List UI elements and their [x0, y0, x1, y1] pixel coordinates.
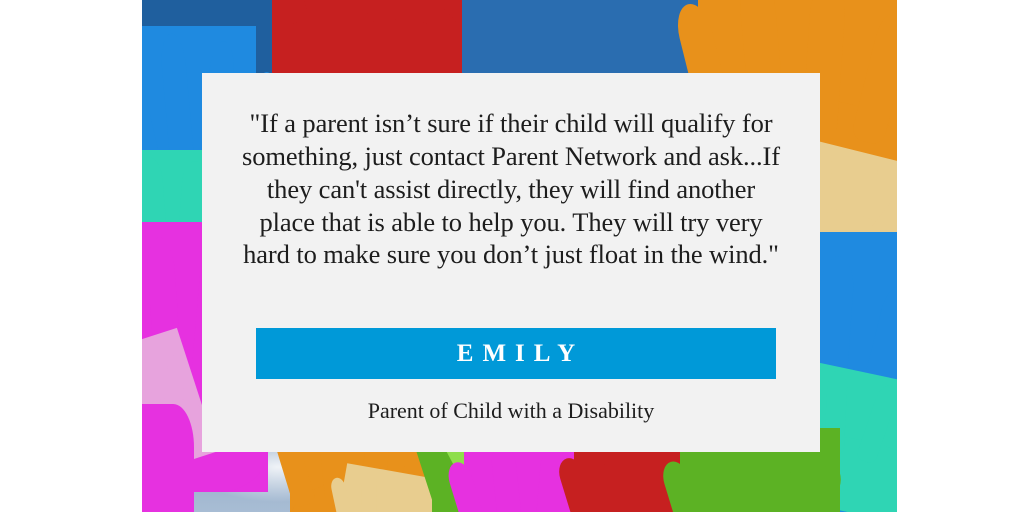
attribution-name-banner: EMILY [256, 328, 776, 379]
quote-text: "If a parent isn’t sure if their child w… [238, 107, 784, 271]
quote-card: "If a parent isn’t sure if their child w… [202, 73, 820, 452]
attribution-name-label: EMILY [448, 340, 584, 368]
attribution-role-label: Parent of Child with a Disability [202, 398, 820, 424]
testimonial-graphic: "If a parent isn’t sure if their child w… [0, 0, 1024, 512]
hand-magenta-sliver-bottom-left [142, 404, 194, 512]
